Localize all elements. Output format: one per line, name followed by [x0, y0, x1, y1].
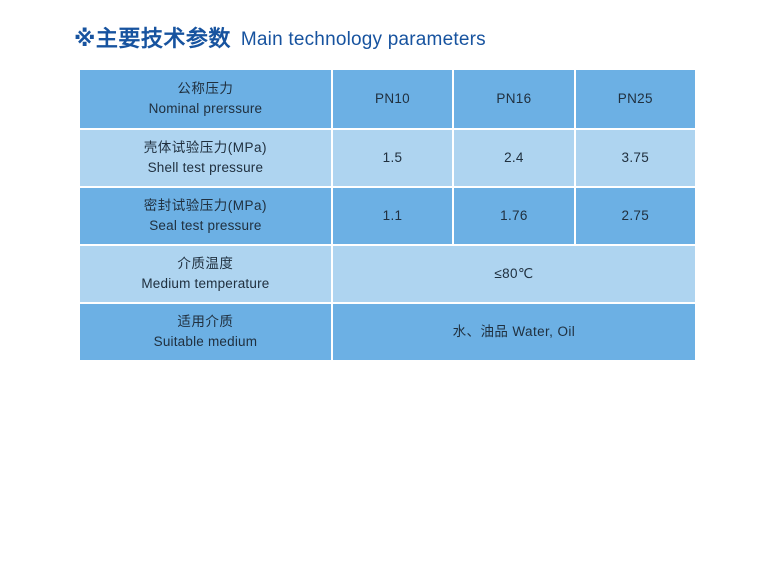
cell-value: PN25 — [576, 89, 695, 109]
cell-seal-test-pressure-pn25: 2.75 — [576, 188, 695, 244]
page-title: ※主要技术参数Main technology parameters — [74, 28, 486, 50]
row-label-en: Shell test pressure — [86, 158, 325, 178]
page-title-chinese: ※主要技术参数 — [74, 26, 231, 51]
row-label-medium-temperature: 介质温度 Medium temperature — [80, 246, 331, 302]
cell-value: PN10 — [333, 89, 452, 109]
row-label-en: Seal test pressure — [86, 216, 325, 236]
cell-value: 2.4 — [454, 148, 573, 168]
cell-value: ≤80℃ — [333, 264, 695, 284]
cell-seal-test-pressure-pn16: 1.76 — [454, 188, 573, 244]
row-label-en: Suitable medium — [86, 332, 325, 352]
row-label-en: Medium temperature — [86, 274, 325, 294]
cell-value: 2.75 — [576, 206, 695, 226]
row-label-cn: 密封试验压力(MPa) — [86, 196, 325, 216]
cell-value: 1.1 — [333, 206, 452, 226]
row-label-en: Nominal prerssure — [86, 99, 325, 119]
row-label-seal-test-pressure: 密封试验压力(MPa) Seal test pressure — [80, 188, 331, 244]
cell-value: 3.75 — [576, 148, 695, 168]
cell-medium-temperature-value: ≤80℃ — [333, 246, 695, 302]
cell-nominal-pressure-pn10: PN10 — [333, 70, 452, 128]
cell-shell-test-pressure-pn10: 1.5 — [333, 130, 452, 186]
table-row: 公称压力 Nominal prerssure PN10 PN16 PN25 — [80, 70, 695, 128]
technology-parameters-table: 公称压力 Nominal prerssure PN10 PN16 PN25 壳体… — [78, 68, 697, 362]
row-label-cn: 公称压力 — [86, 79, 325, 99]
row-label-cn: 壳体试验压力(MPa) — [86, 138, 325, 158]
cell-value: 水、油品 Water, Oil — [333, 322, 695, 342]
row-label-nominal-pressure: 公称压力 Nominal prerssure — [80, 70, 331, 128]
table-row: 介质温度 Medium temperature ≤80℃ — [80, 246, 695, 302]
row-label-suitable-medium: 适用介质 Suitable medium — [80, 304, 331, 360]
table-row: 壳体试验压力(MPa) Shell test pressure 1.5 2.4 … — [80, 130, 695, 186]
row-label-cn: 介质温度 — [86, 254, 325, 274]
table-row: 适用介质 Suitable medium 水、油品 Water, Oil — [80, 304, 695, 360]
row-label-cn: 适用介质 — [86, 312, 325, 332]
cell-value: 1.5 — [333, 148, 452, 168]
row-label-shell-test-pressure: 壳体试验压力(MPa) Shell test pressure — [80, 130, 331, 186]
cell-nominal-pressure-pn25: PN25 — [576, 70, 695, 128]
page-title-english: Main technology parameters — [241, 29, 486, 50]
cell-shell-test-pressure-pn16: 2.4 — [454, 130, 573, 186]
cell-nominal-pressure-pn16: PN16 — [454, 70, 573, 128]
cell-value: 1.76 — [454, 206, 573, 226]
cell-seal-test-pressure-pn10: 1.1 — [333, 188, 452, 244]
cell-value: PN16 — [454, 89, 573, 109]
cell-shell-test-pressure-pn25: 3.75 — [576, 130, 695, 186]
cell-suitable-medium-value: 水、油品 Water, Oil — [333, 304, 695, 360]
table-row: 密封试验压力(MPa) Seal test pressure 1.1 1.76 … — [80, 188, 695, 244]
